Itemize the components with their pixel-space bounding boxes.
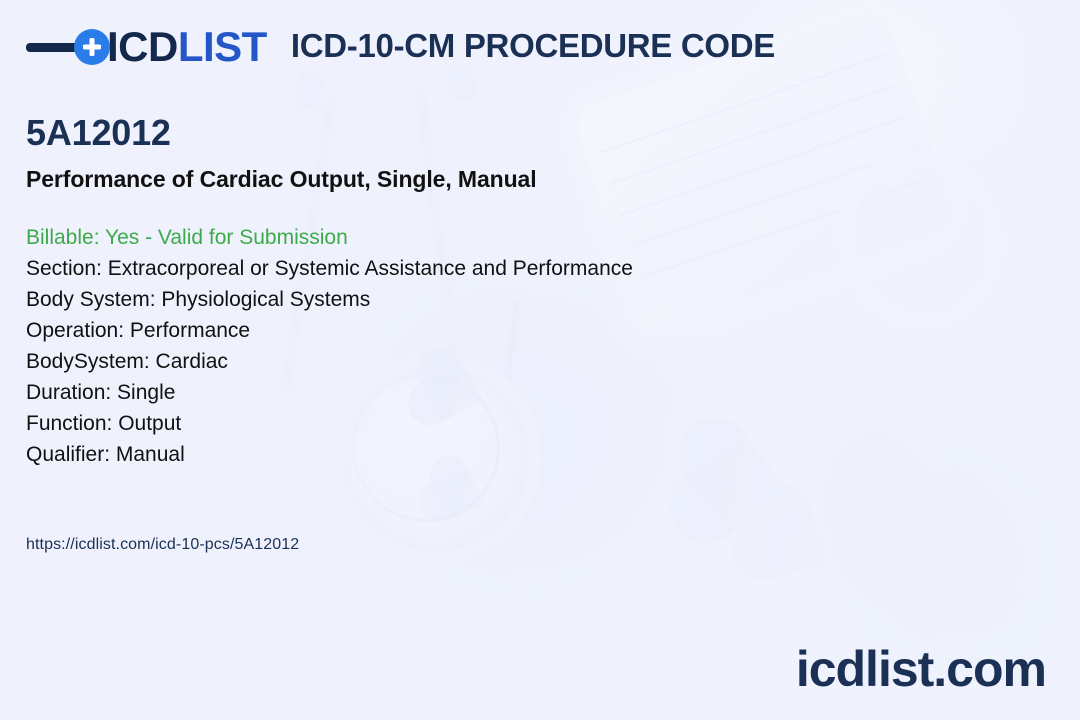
logo-word-list: LIST xyxy=(178,23,267,70)
detail-line: Duration: Single xyxy=(26,377,633,408)
procedure-code: 5A12012 xyxy=(26,112,171,154)
plus-icon xyxy=(74,29,110,65)
brand-watermark: icdlist.com xyxy=(796,640,1046,698)
billable-status-line: Billable: Yes - Valid for Submission xyxy=(26,222,633,253)
logo-wordmark: ICDLIST xyxy=(107,26,267,68)
detail-line: BodySystem: Cardiac xyxy=(26,346,633,377)
content-layer: ICDLIST ICD-10-CM PROCEDURE CODE 5A12012… xyxy=(0,0,1080,720)
page-title: ICD-10-CM PROCEDURE CODE xyxy=(291,27,775,67)
logo-dash-icon xyxy=(26,43,78,52)
icdlist-logo[interactable]: ICDLIST xyxy=(26,26,267,68)
procedure-description: Performance of Cardiac Output, Single, M… xyxy=(26,166,537,193)
detail-line: Qualifier: Manual xyxy=(26,439,633,470)
logo-word-icd: ICD xyxy=(107,23,178,70)
detail-line: Operation: Performance xyxy=(26,315,633,346)
detail-line: Section: Extracorporeal or Systemic Assi… xyxy=(26,253,633,284)
code-detail-list: Billable: Yes - Valid for SubmissionSect… xyxy=(26,222,633,470)
detail-line: Body System: Physiological Systems xyxy=(26,284,633,315)
detail-line: Function: Output xyxy=(26,408,633,439)
page-root: ICDLIST ICD-10-CM PROCEDURE CODE 5A12012… xyxy=(0,0,1080,720)
plus-icon-horizontal-bar xyxy=(83,45,101,50)
source-url[interactable]: https://icdlist.com/icd-10-pcs/5A12012 xyxy=(26,536,299,554)
header: ICDLIST ICD-10-CM PROCEDURE CODE xyxy=(26,26,775,68)
